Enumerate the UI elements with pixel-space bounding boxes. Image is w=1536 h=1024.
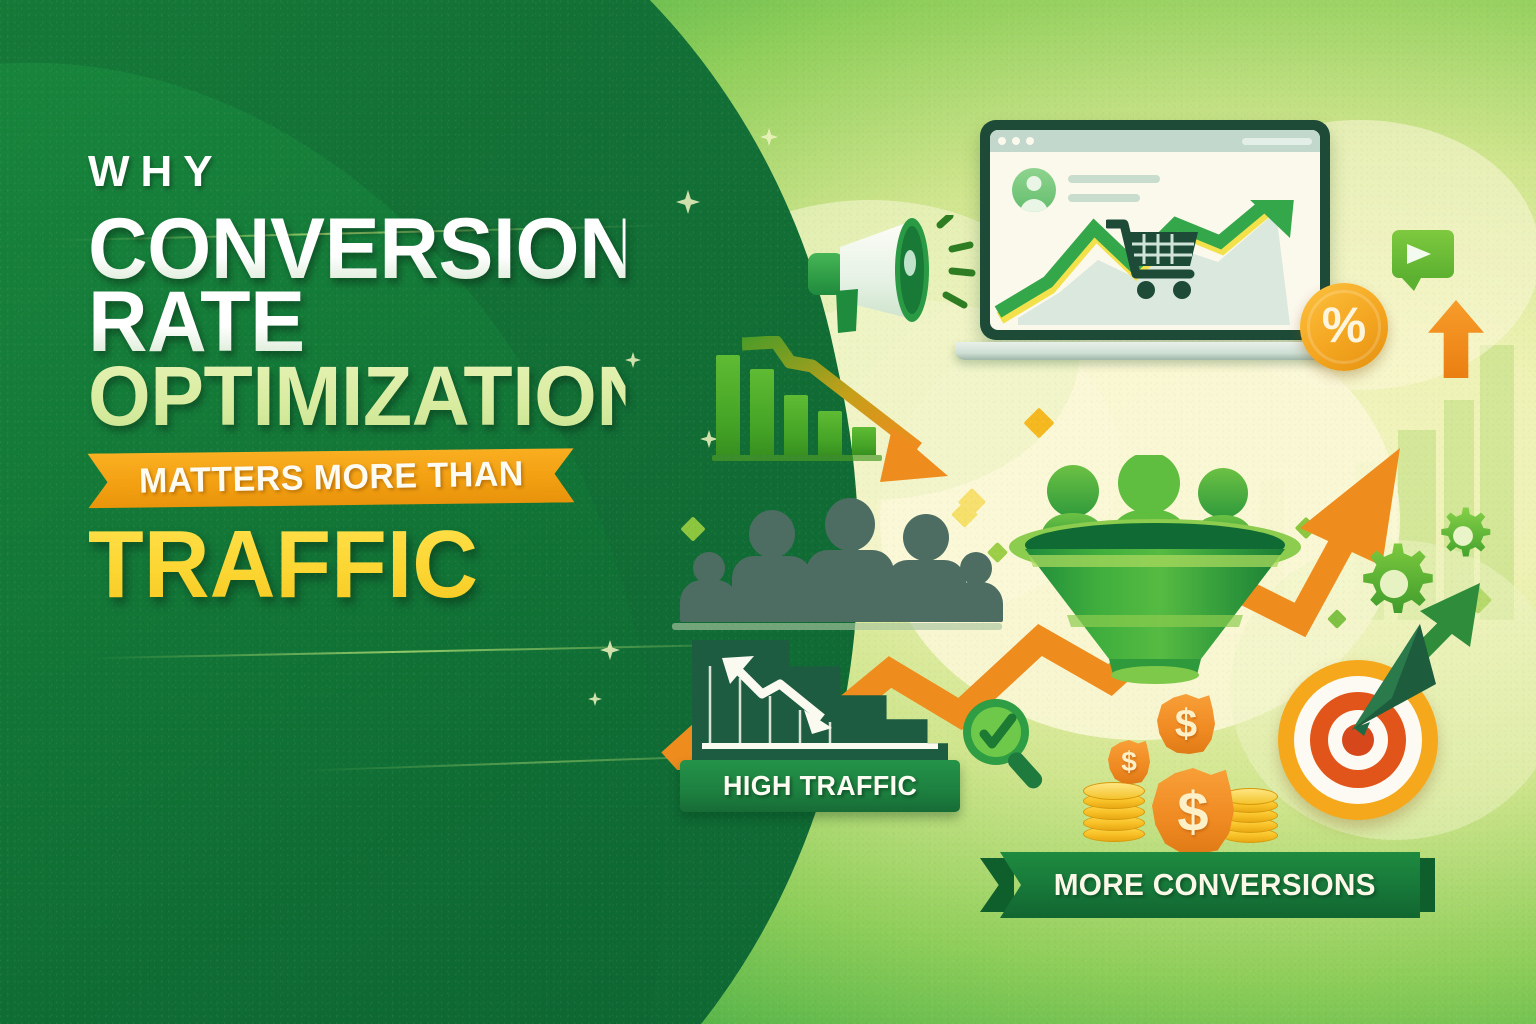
coin [1083,782,1145,800]
declining-step-chart [692,640,948,760]
dollar-coin-small: $ [1108,740,1150,784]
funnel-icon [1005,455,1305,695]
high-traffic-label: HIGH TRAFFIC [723,770,917,802]
magnifier-check-icon [958,694,1053,789]
person-head [825,498,875,551]
headline-kicker: WHY [88,150,648,194]
megaphone-icon [800,215,980,355]
downward-arrow-icon [718,652,838,736]
target-icon [1278,660,1438,820]
dashboard-content [990,152,1320,330]
person-body [806,550,894,622]
placeholder-line [1068,175,1160,183]
high-traffic-card: HIGH TRAFFIC [680,640,960,812]
bar [716,355,740,455]
laptop-icon [980,120,1330,360]
headline-ribbon-label: MATTERS MORE THAN [138,455,524,502]
person-body [732,556,812,622]
person-silhouette [948,552,1004,622]
shopping-cart-icon [1106,216,1202,302]
more-conversions-ribbon: MORE CONVERSIONS [1000,852,1420,918]
person-silhouette [730,510,814,622]
declining-arrow-icon [742,336,982,496]
headline-line-3: OPTIMIZATION [88,358,626,435]
dollar-coin-medium: $ [1157,694,1215,754]
person-head [960,552,992,585]
percent-symbol: % [1322,300,1366,350]
headline-line-4: TRAFFIC [88,521,620,609]
more-conversions-label: MORE CONVERSIONS [1054,867,1376,903]
window-dot [1012,137,1020,145]
person-body [949,582,1003,622]
coin-stack-icon [1083,782,1145,844]
high-traffic-label-band: HIGH TRAFFIC [680,760,960,812]
percent-coin-icon: % [1300,283,1388,371]
chat-bubble-icon [1392,230,1454,278]
window-dot [998,137,1006,145]
window-dot [1026,137,1034,145]
gear-icon [1432,505,1494,567]
headline-ribbon: MATTERS MORE THAN [87,445,574,512]
laptop-lid [980,120,1330,340]
person-head [903,514,949,561]
crowd-icon [672,490,1002,630]
dart-icon [1324,618,1444,748]
laptop-base [955,342,1355,360]
person-head [749,510,795,558]
send-arrow-icon [1407,244,1431,264]
person-silhouette [804,498,896,622]
browser-window [990,130,1320,330]
poster-canvas: % [0,0,1536,1024]
address-bar [1242,138,1312,145]
avatar-head [1027,176,1042,191]
gear-icon [1350,540,1438,628]
dollar-coin-large: $ [1152,768,1234,854]
browser-toolbar [990,130,1320,152]
headline-block: WHY CONVERSION RATE OPTIMIZATION MATTERS… [88,150,648,610]
crowd-baseline [672,623,1002,630]
